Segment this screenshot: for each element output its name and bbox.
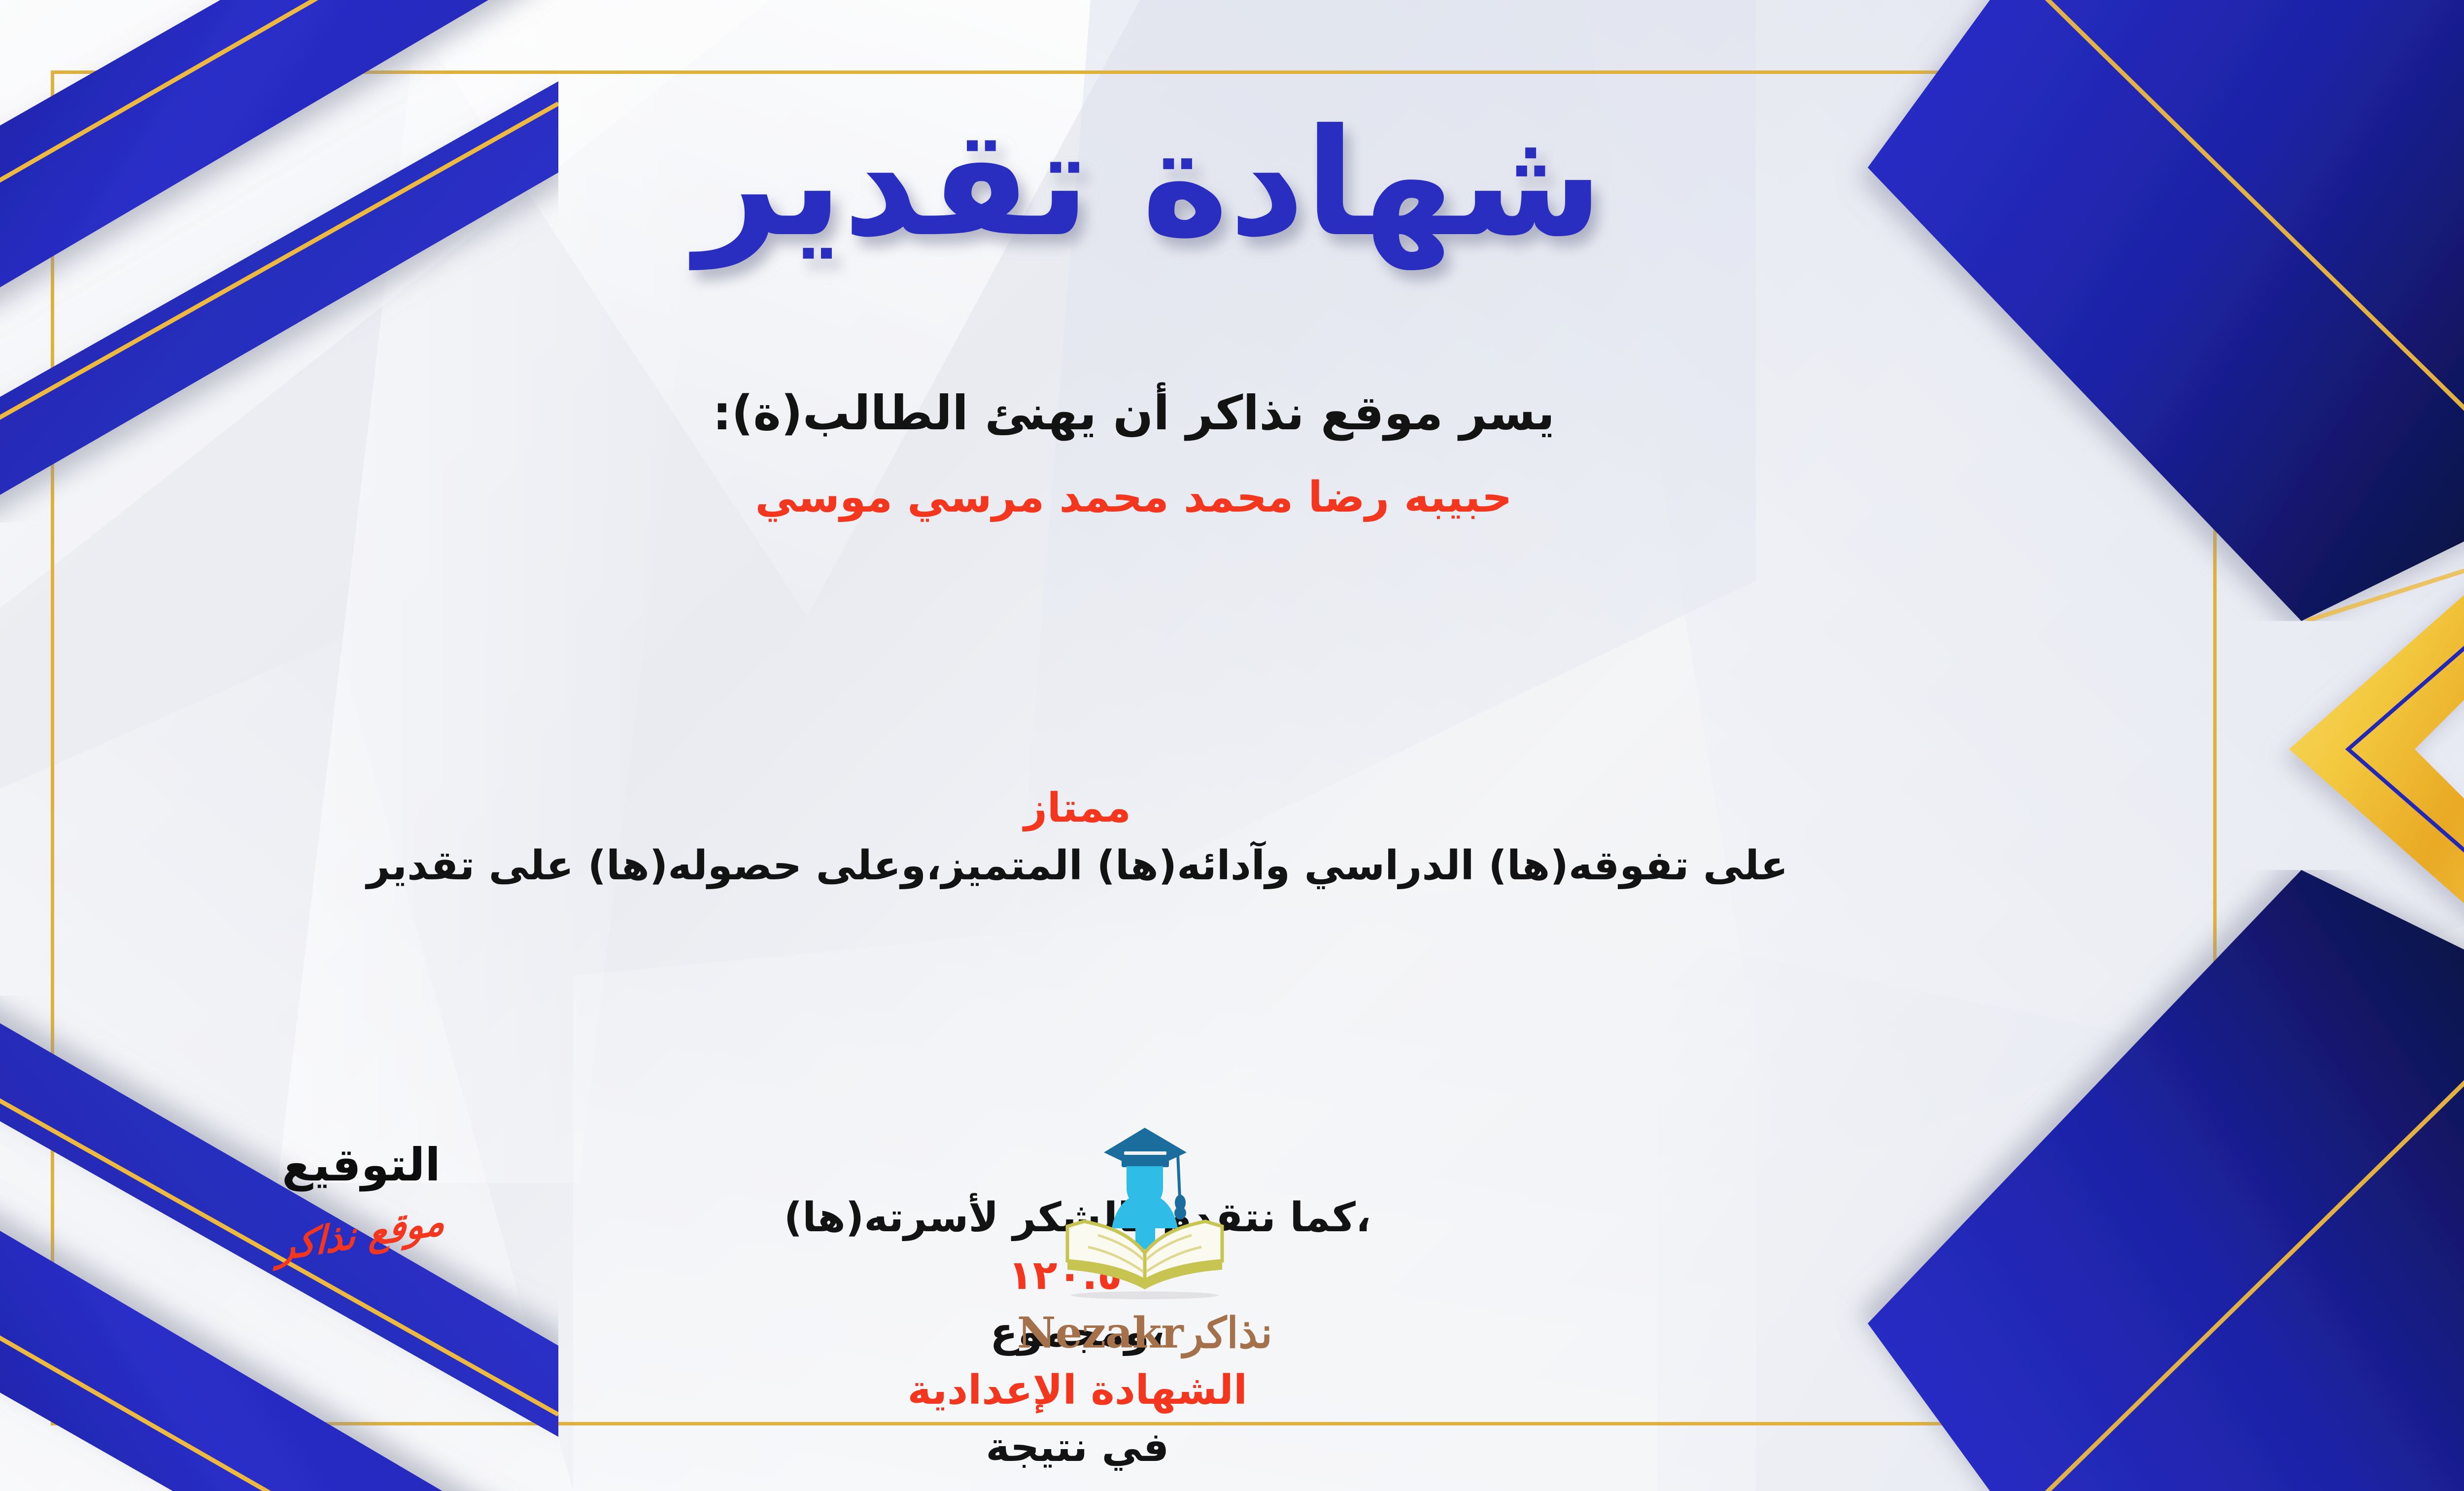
paragraph-row-3: ممتاز على تفوقه(ها) الدراسي وآدائه(ها) ا… <box>54 723 2213 952</box>
grade-value: ممتاز <box>1024 785 1131 832</box>
logo-graphic <box>1039 1124 1251 1311</box>
exam-name: الشهادة الإعدادية <box>908 1367 1248 1414</box>
greeting-line: يسر موقع نذاكر أن يهنئ الطالب(ة): <box>54 380 2213 447</box>
logo-wordmark: نذاكرNezakr <box>953 1308 1337 1358</box>
certificate-title: شهادة تقدير <box>632 76 1667 303</box>
result-prefix: في نتيجة <box>986 1424 1169 1471</box>
paragraph-row-3-text: على تفوقه(ها) الدراسي وآدائه(ها) المتميز… <box>367 842 1788 889</box>
student-name: حبيبه رضا محمد محمد مرسي موسي <box>54 467 2213 527</box>
brand-logo: نذاكرNezakr <box>953 1124 1337 1358</box>
certificate-canvas: شهادة تقدير يسر موقع نذاكر أن يهنئ الطال… <box>0 0 2464 1491</box>
signature-label: التوقيع <box>179 1139 544 1191</box>
signature-block: التوقيع موقع نذاكر <box>179 1139 544 1256</box>
title-text: شهادة تقدير <box>688 97 1603 271</box>
gold-frame-top <box>51 70 2217 74</box>
certificate-title-container: شهادة تقدير <box>0 74 2464 306</box>
